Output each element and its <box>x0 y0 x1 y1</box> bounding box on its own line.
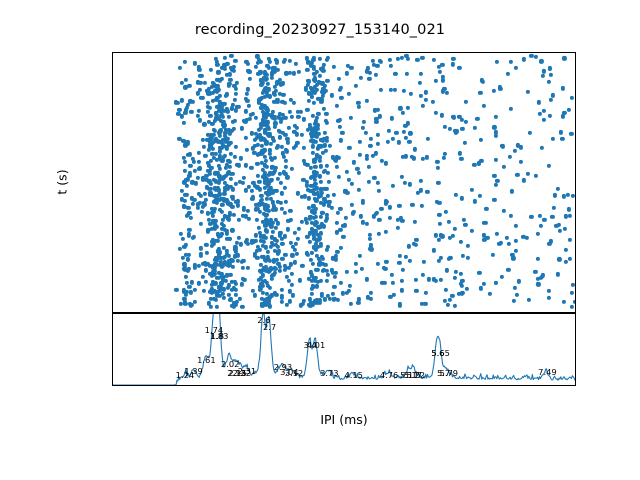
scatter-point <box>198 88 202 92</box>
scatter-point <box>549 98 553 102</box>
scatter-point <box>413 147 417 151</box>
scatter-point <box>539 276 543 280</box>
scatter-point <box>446 303 450 307</box>
scatter-point <box>376 262 380 266</box>
tick-mark <box>345 385 346 386</box>
scatter-point <box>556 187 560 191</box>
scatter-point <box>562 56 566 60</box>
scatter-point <box>228 78 232 82</box>
scatter-point <box>527 131 531 135</box>
scatter-point <box>184 243 188 247</box>
scatter-point <box>559 130 563 134</box>
scatter-point <box>277 249 281 253</box>
scatter-point <box>264 213 268 217</box>
scatter-point <box>494 134 498 138</box>
scatter-point <box>377 232 381 236</box>
scatter-point <box>230 228 234 232</box>
matplotlib-figure: recording_20230927_153140_021 t (s) 0255… <box>0 0 640 480</box>
scatter-point <box>514 249 518 253</box>
scatter-point <box>222 192 226 196</box>
scatter-point <box>319 279 323 283</box>
scatter-point <box>323 131 327 135</box>
scatter-point <box>245 148 249 152</box>
scatter-point <box>479 286 483 290</box>
scatter-point <box>492 198 496 202</box>
scatter-point <box>514 239 518 243</box>
scatter-point <box>507 242 511 246</box>
scatter-point <box>393 88 397 92</box>
scatter-point <box>527 298 531 302</box>
scatter-point <box>374 120 378 124</box>
scatter-point <box>418 80 422 84</box>
scatter-point <box>557 257 561 261</box>
scatter-point <box>450 294 454 298</box>
scatter-point <box>244 109 248 113</box>
scatter-point <box>178 66 182 70</box>
scatter-point <box>264 197 268 201</box>
scatter-point <box>433 111 437 115</box>
scatter-point <box>506 267 510 271</box>
scatter-point <box>547 296 551 300</box>
scatter-point <box>196 176 200 180</box>
scatter-point <box>267 209 271 213</box>
tick-mark <box>171 385 172 386</box>
scatter-point <box>349 65 353 69</box>
scatter-point <box>357 188 361 192</box>
scatter-point <box>283 116 287 120</box>
scatter-point <box>245 92 249 96</box>
scatter-point <box>266 250 270 254</box>
scatter-point <box>299 110 303 114</box>
scatter-point <box>563 227 567 231</box>
scatter-point <box>327 144 331 148</box>
scatter-point <box>227 283 231 287</box>
scatter-point <box>252 240 256 244</box>
scatter-point <box>246 266 250 270</box>
scatter-point <box>419 94 423 98</box>
scatter-point <box>229 177 233 181</box>
scatter-point <box>439 278 443 282</box>
scatter-point <box>539 59 543 63</box>
scatter-point <box>564 260 568 264</box>
scatter-point <box>223 189 227 193</box>
scatter-point <box>239 156 243 160</box>
scatter-point <box>327 200 331 204</box>
scatter-point <box>318 236 322 240</box>
scatter-point <box>240 304 244 308</box>
scatter-point <box>246 87 250 91</box>
scatter-point <box>246 209 250 213</box>
scatter-point <box>305 68 309 72</box>
scatter-point <box>234 87 238 91</box>
scatter-point <box>562 110 566 114</box>
scatter-point <box>350 211 354 215</box>
scatter-point <box>233 144 237 148</box>
scatter-point <box>365 277 369 281</box>
scatter-point <box>201 275 205 279</box>
scatter-point <box>367 180 371 184</box>
scatter-point <box>237 236 241 240</box>
scatter-point <box>522 178 526 182</box>
scatter-point <box>311 144 315 148</box>
scatter-point <box>310 251 314 255</box>
scatter-point <box>345 71 349 75</box>
scatter-point <box>447 257 451 261</box>
scatter-point <box>270 157 274 161</box>
scatter-point <box>436 181 440 185</box>
scatter-point <box>312 56 316 60</box>
scatter-point <box>542 118 546 122</box>
scatter-point <box>182 120 186 124</box>
scatter-point <box>345 291 349 295</box>
scatter-point <box>462 218 466 222</box>
scatter-point <box>335 104 339 108</box>
scatter-point <box>297 227 301 231</box>
scatter-point <box>354 270 358 274</box>
scatter-point <box>318 174 322 178</box>
scatter-point <box>237 218 241 222</box>
scatter-point <box>290 167 294 171</box>
scatter-point <box>459 272 463 276</box>
scatter-point <box>280 242 284 246</box>
scatter-point <box>434 233 438 237</box>
scatter-point <box>461 254 465 258</box>
scatter-point <box>274 293 278 297</box>
scatter-point <box>187 285 191 289</box>
tick-mark <box>113 385 114 386</box>
scatter-point <box>525 236 529 240</box>
scatter-point <box>274 189 278 193</box>
scatter-point <box>280 191 284 195</box>
scatter-point <box>211 140 215 144</box>
scatter-point <box>376 142 380 146</box>
scatter-point <box>358 254 362 258</box>
scatter-point <box>502 165 506 169</box>
scatter-point <box>315 268 319 272</box>
scatter-point <box>294 252 298 256</box>
scatter-point <box>273 207 277 211</box>
scatter-point <box>250 197 254 201</box>
scatter-point <box>278 268 282 272</box>
scatter-point <box>210 244 214 248</box>
scatter-point <box>573 300 576 304</box>
scatter-point <box>437 238 441 242</box>
figure-title: recording_20230927_153140_021 <box>0 22 640 38</box>
scatter-point <box>332 193 336 197</box>
scatter-point <box>390 273 394 277</box>
scatter-point <box>183 60 187 64</box>
scatter-point <box>550 214 554 218</box>
scatter-point <box>444 288 448 292</box>
scatter-point <box>379 88 383 92</box>
scatter-point <box>414 289 418 293</box>
raster-plot-axes: 0255075100125150175 <box>112 52 576 313</box>
scatter-point <box>445 268 449 272</box>
scatter-point <box>335 250 339 254</box>
scatter-point <box>364 130 368 134</box>
scatter-point <box>240 260 244 264</box>
scatter-point <box>188 163 192 167</box>
scatter-point <box>505 236 509 240</box>
scatter-point <box>208 114 212 118</box>
scatter-point <box>244 136 248 140</box>
scatter-point <box>294 144 298 148</box>
scatter-point <box>460 127 464 131</box>
scatter-point <box>437 213 441 217</box>
tick-mark <box>403 385 404 386</box>
scatter-point <box>240 266 244 270</box>
scatter-point <box>204 243 208 247</box>
scatter-point <box>240 282 244 286</box>
scatter-point <box>360 267 364 271</box>
scatter-point <box>203 81 207 85</box>
scatter-point <box>272 138 276 142</box>
scatter-point <box>440 63 444 67</box>
scatter-point <box>556 272 560 276</box>
scatter-point <box>206 228 210 232</box>
peak-label: 3.12 <box>285 369 303 377</box>
scatter-point <box>250 131 254 135</box>
scatter-point <box>325 170 329 174</box>
scatter-point <box>281 93 285 97</box>
scatter-point <box>388 205 392 209</box>
scatter-point <box>318 300 322 304</box>
scatter-point <box>323 263 327 267</box>
tick-mark <box>112 240 113 241</box>
scatter-point <box>234 293 238 297</box>
scatter-point <box>180 81 184 85</box>
scatter-point <box>333 257 337 261</box>
scatter-point <box>317 226 321 230</box>
scatter-point <box>199 222 203 226</box>
scatter-point <box>451 57 455 61</box>
scatter-point <box>197 281 201 285</box>
scatter-point <box>347 146 351 150</box>
scatter-point <box>453 227 457 231</box>
scatter-point <box>407 244 411 248</box>
scatter-point <box>421 157 425 161</box>
tick-mark <box>112 274 113 275</box>
scatter-point <box>379 207 383 211</box>
peak-label: 5.79 <box>440 369 458 377</box>
scatter-point <box>482 238 486 242</box>
scatter-point <box>233 59 237 63</box>
scatter-point <box>189 216 193 220</box>
raster-y-axis-label: t (s) <box>55 169 70 194</box>
scatter-point <box>337 175 341 179</box>
scatter-point <box>519 160 523 164</box>
scatter-point <box>421 260 425 264</box>
scatter-point <box>356 171 360 175</box>
scatter-point <box>354 84 358 88</box>
scatter-point <box>287 126 291 130</box>
scatter-point <box>185 184 189 188</box>
scatter-point <box>257 225 261 229</box>
scatter-point <box>397 261 401 265</box>
scatter-point <box>201 96 205 100</box>
scatter-point <box>247 70 251 74</box>
scatter-point <box>234 92 238 96</box>
scatter-point <box>408 131 412 135</box>
scatter-point <box>257 180 261 184</box>
scatter-point <box>348 284 352 288</box>
scatter-point <box>325 58 329 62</box>
tick-mark <box>112 73 113 74</box>
scatter-point <box>305 108 309 112</box>
scatter-point <box>473 126 477 130</box>
scatter-point <box>570 291 574 295</box>
scatter-point <box>332 64 336 68</box>
scatter-point <box>391 137 395 141</box>
scatter-point <box>295 132 299 136</box>
scatter-point <box>288 110 292 114</box>
scatter-point <box>238 297 242 301</box>
scatter-point <box>569 132 573 136</box>
scatter-point <box>176 101 180 105</box>
scatter-point <box>300 133 304 137</box>
scatter-point <box>400 279 404 283</box>
scatter-point <box>367 165 371 169</box>
scatter-point <box>410 203 414 207</box>
scatter-point <box>368 237 372 241</box>
scatter-point <box>508 155 512 159</box>
scatter-point <box>384 230 388 234</box>
scatter-point <box>341 291 345 295</box>
scatter-point <box>568 214 572 218</box>
scatter-point <box>187 252 191 256</box>
scatter-point <box>323 84 327 88</box>
scatter-point <box>241 180 245 184</box>
scatter-point <box>294 242 298 246</box>
scatter-point <box>244 163 248 167</box>
scatter-point <box>345 170 349 174</box>
scatter-point <box>374 73 378 77</box>
scatter-point <box>367 71 371 75</box>
scatter-point <box>447 297 451 301</box>
scatter-point <box>192 288 196 292</box>
scatter-point <box>197 151 201 155</box>
scatter-point <box>420 204 424 208</box>
scatter-point <box>211 99 215 103</box>
scatter-point <box>420 104 424 108</box>
scatter-point <box>222 296 226 300</box>
scatter-point <box>294 61 298 65</box>
scatter-point <box>560 137 564 141</box>
scatter-point <box>203 154 207 158</box>
scatter-point <box>237 105 241 109</box>
scatter-point <box>184 193 188 197</box>
scatter-point <box>549 239 553 243</box>
scatter-point <box>484 207 488 211</box>
scatter-point <box>199 246 203 250</box>
scatter-point <box>290 115 294 119</box>
scatter-point <box>322 107 326 111</box>
scatter-point <box>265 165 269 169</box>
scatter-point <box>252 293 256 297</box>
scatter-point <box>254 233 258 237</box>
scatter-point <box>184 77 188 81</box>
scatter-point <box>440 113 444 117</box>
scatter-point <box>567 207 571 211</box>
scatter-point <box>329 206 333 210</box>
scatter-point <box>454 193 458 197</box>
scatter-point <box>231 205 235 209</box>
scatter-point <box>268 304 272 308</box>
scatter-point <box>227 217 231 221</box>
scatter-point <box>459 240 463 244</box>
scatter-point <box>179 232 183 236</box>
scatter-point <box>350 181 354 185</box>
scatter-point <box>197 160 201 164</box>
scatter-point <box>189 109 193 113</box>
scatter-point <box>567 257 571 261</box>
scatter-point <box>437 201 441 205</box>
scatter-point <box>319 180 323 184</box>
scatter-point <box>513 286 517 290</box>
scatter-point <box>203 192 207 196</box>
peak-label: 5.65 <box>431 349 449 357</box>
scatter-point <box>463 223 467 227</box>
scatter-point <box>217 181 221 185</box>
scatter-point <box>285 149 289 153</box>
scatter-point <box>424 90 428 94</box>
scatter-point <box>220 232 224 236</box>
scatter-point <box>211 214 215 218</box>
scatter-point <box>506 72 510 76</box>
scatter-point <box>229 54 233 58</box>
scatter-point <box>509 107 513 111</box>
scatter-point <box>254 65 258 69</box>
scatter-point <box>482 104 486 108</box>
scatter-point <box>255 218 259 222</box>
scatter-point <box>561 300 565 304</box>
scatter-point <box>319 164 323 168</box>
scatter-point <box>284 200 288 204</box>
scatter-point <box>384 260 388 264</box>
scatter-point <box>369 291 373 295</box>
scatter-point <box>234 288 238 292</box>
scatter-point <box>340 131 344 135</box>
scatter-point <box>398 304 402 308</box>
scatter-point <box>321 269 325 273</box>
scatter-point <box>192 235 196 239</box>
scatter-point <box>268 94 272 98</box>
scatter-point <box>231 171 235 175</box>
scatter-point <box>375 133 379 137</box>
scatter-point <box>435 159 439 163</box>
scatter-point <box>406 106 410 110</box>
scatter-point <box>400 56 404 60</box>
scatter-point <box>194 181 198 185</box>
tick-mark <box>112 307 113 308</box>
histogram-x-axis-label: IPI (ms) <box>320 412 367 427</box>
scatter-point <box>516 279 520 283</box>
scatter-point <box>460 291 464 295</box>
scatter-point <box>339 96 343 100</box>
scatter-point <box>497 242 501 246</box>
scatter-point <box>187 84 191 88</box>
scatter-point <box>286 140 290 144</box>
scatter-point <box>501 145 505 149</box>
tick-mark <box>112 140 113 141</box>
scatter-point <box>513 149 517 153</box>
scatter-point <box>511 256 515 260</box>
scatter-point <box>514 66 518 70</box>
scatter-point <box>276 245 280 249</box>
scatter-point <box>332 285 336 289</box>
scatter-point <box>234 108 238 112</box>
scatter-point <box>378 114 382 118</box>
